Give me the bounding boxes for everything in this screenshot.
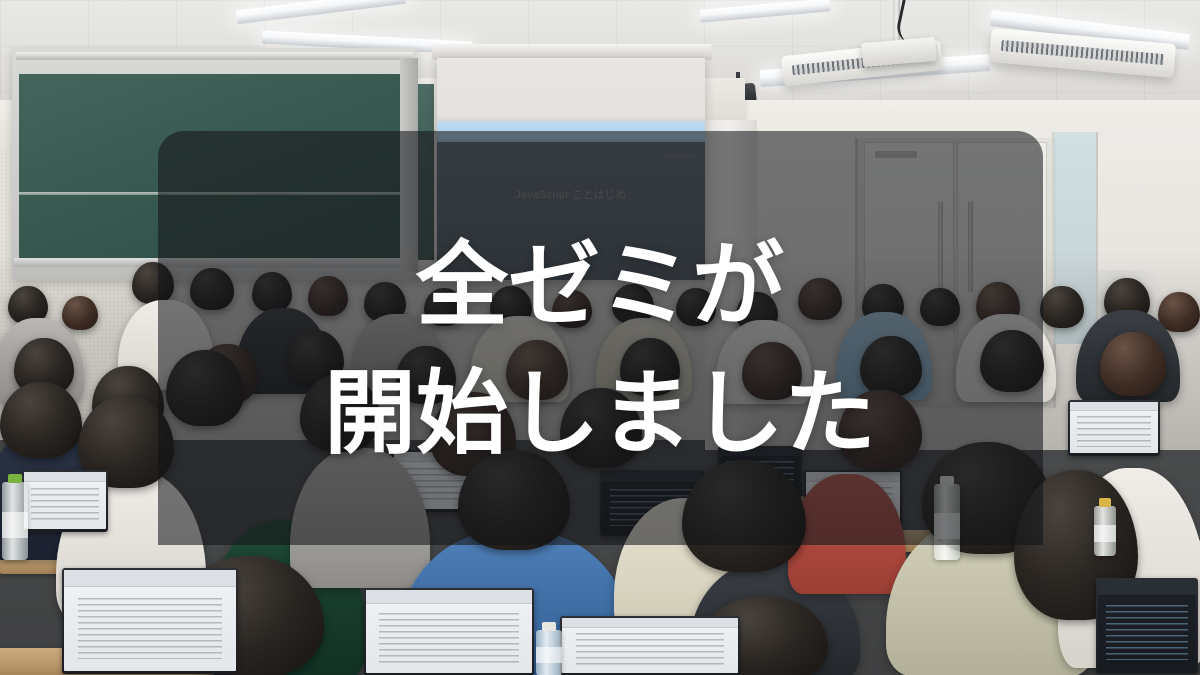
- water-bottle: [2, 482, 28, 560]
- headline-line-2: 開始しました: [0, 350, 1200, 478]
- laptop-screen: [64, 570, 236, 671]
- headline: 全ゼミが 開始しました: [0, 222, 1200, 478]
- bottle-label: [1094, 525, 1116, 542]
- laptop-ui-content: [78, 598, 223, 659]
- laptop-ui-toolbar: [366, 590, 532, 604]
- bottle-cap: [542, 622, 557, 631]
- chalkboard-top-rail: [16, 52, 413, 60]
- screenshot-canvas: Panasonic JavaScript ことはじめ: [0, 0, 1200, 675]
- headline-line-1: 全ゼミが: [0, 222, 1200, 350]
- laptop-screen: [366, 590, 532, 673]
- laptop[interactable]: [22, 470, 108, 532]
- laptop[interactable]: [62, 568, 238, 674]
- laptop-ui-content: [576, 633, 724, 666]
- laptop-screen: [1098, 580, 1196, 671]
- water-bottle: [1094, 506, 1116, 556]
- water-bottle: [536, 630, 562, 675]
- laptop[interactable]: [364, 588, 534, 675]
- bottle-cap: [1099, 498, 1111, 507]
- ac-grill: [1001, 40, 1164, 66]
- laptop-screen: [562, 618, 738, 673]
- laptop-ui-content: [1106, 605, 1188, 660]
- laptop-ui-content: [31, 488, 100, 522]
- laptop[interactable]: [1096, 578, 1198, 674]
- laptop-ui-toolbar: [64, 570, 236, 587]
- laptop-ui-toolbar: [1098, 580, 1196, 596]
- bottle-label: [536, 647, 562, 663]
- laptop-ui-content: [379, 613, 518, 663]
- laptop-ui-toolbar: [562, 618, 738, 628]
- laptop[interactable]: [560, 616, 740, 675]
- laptop-screen: [24, 472, 106, 529]
- bottle-label: [2, 512, 28, 539]
